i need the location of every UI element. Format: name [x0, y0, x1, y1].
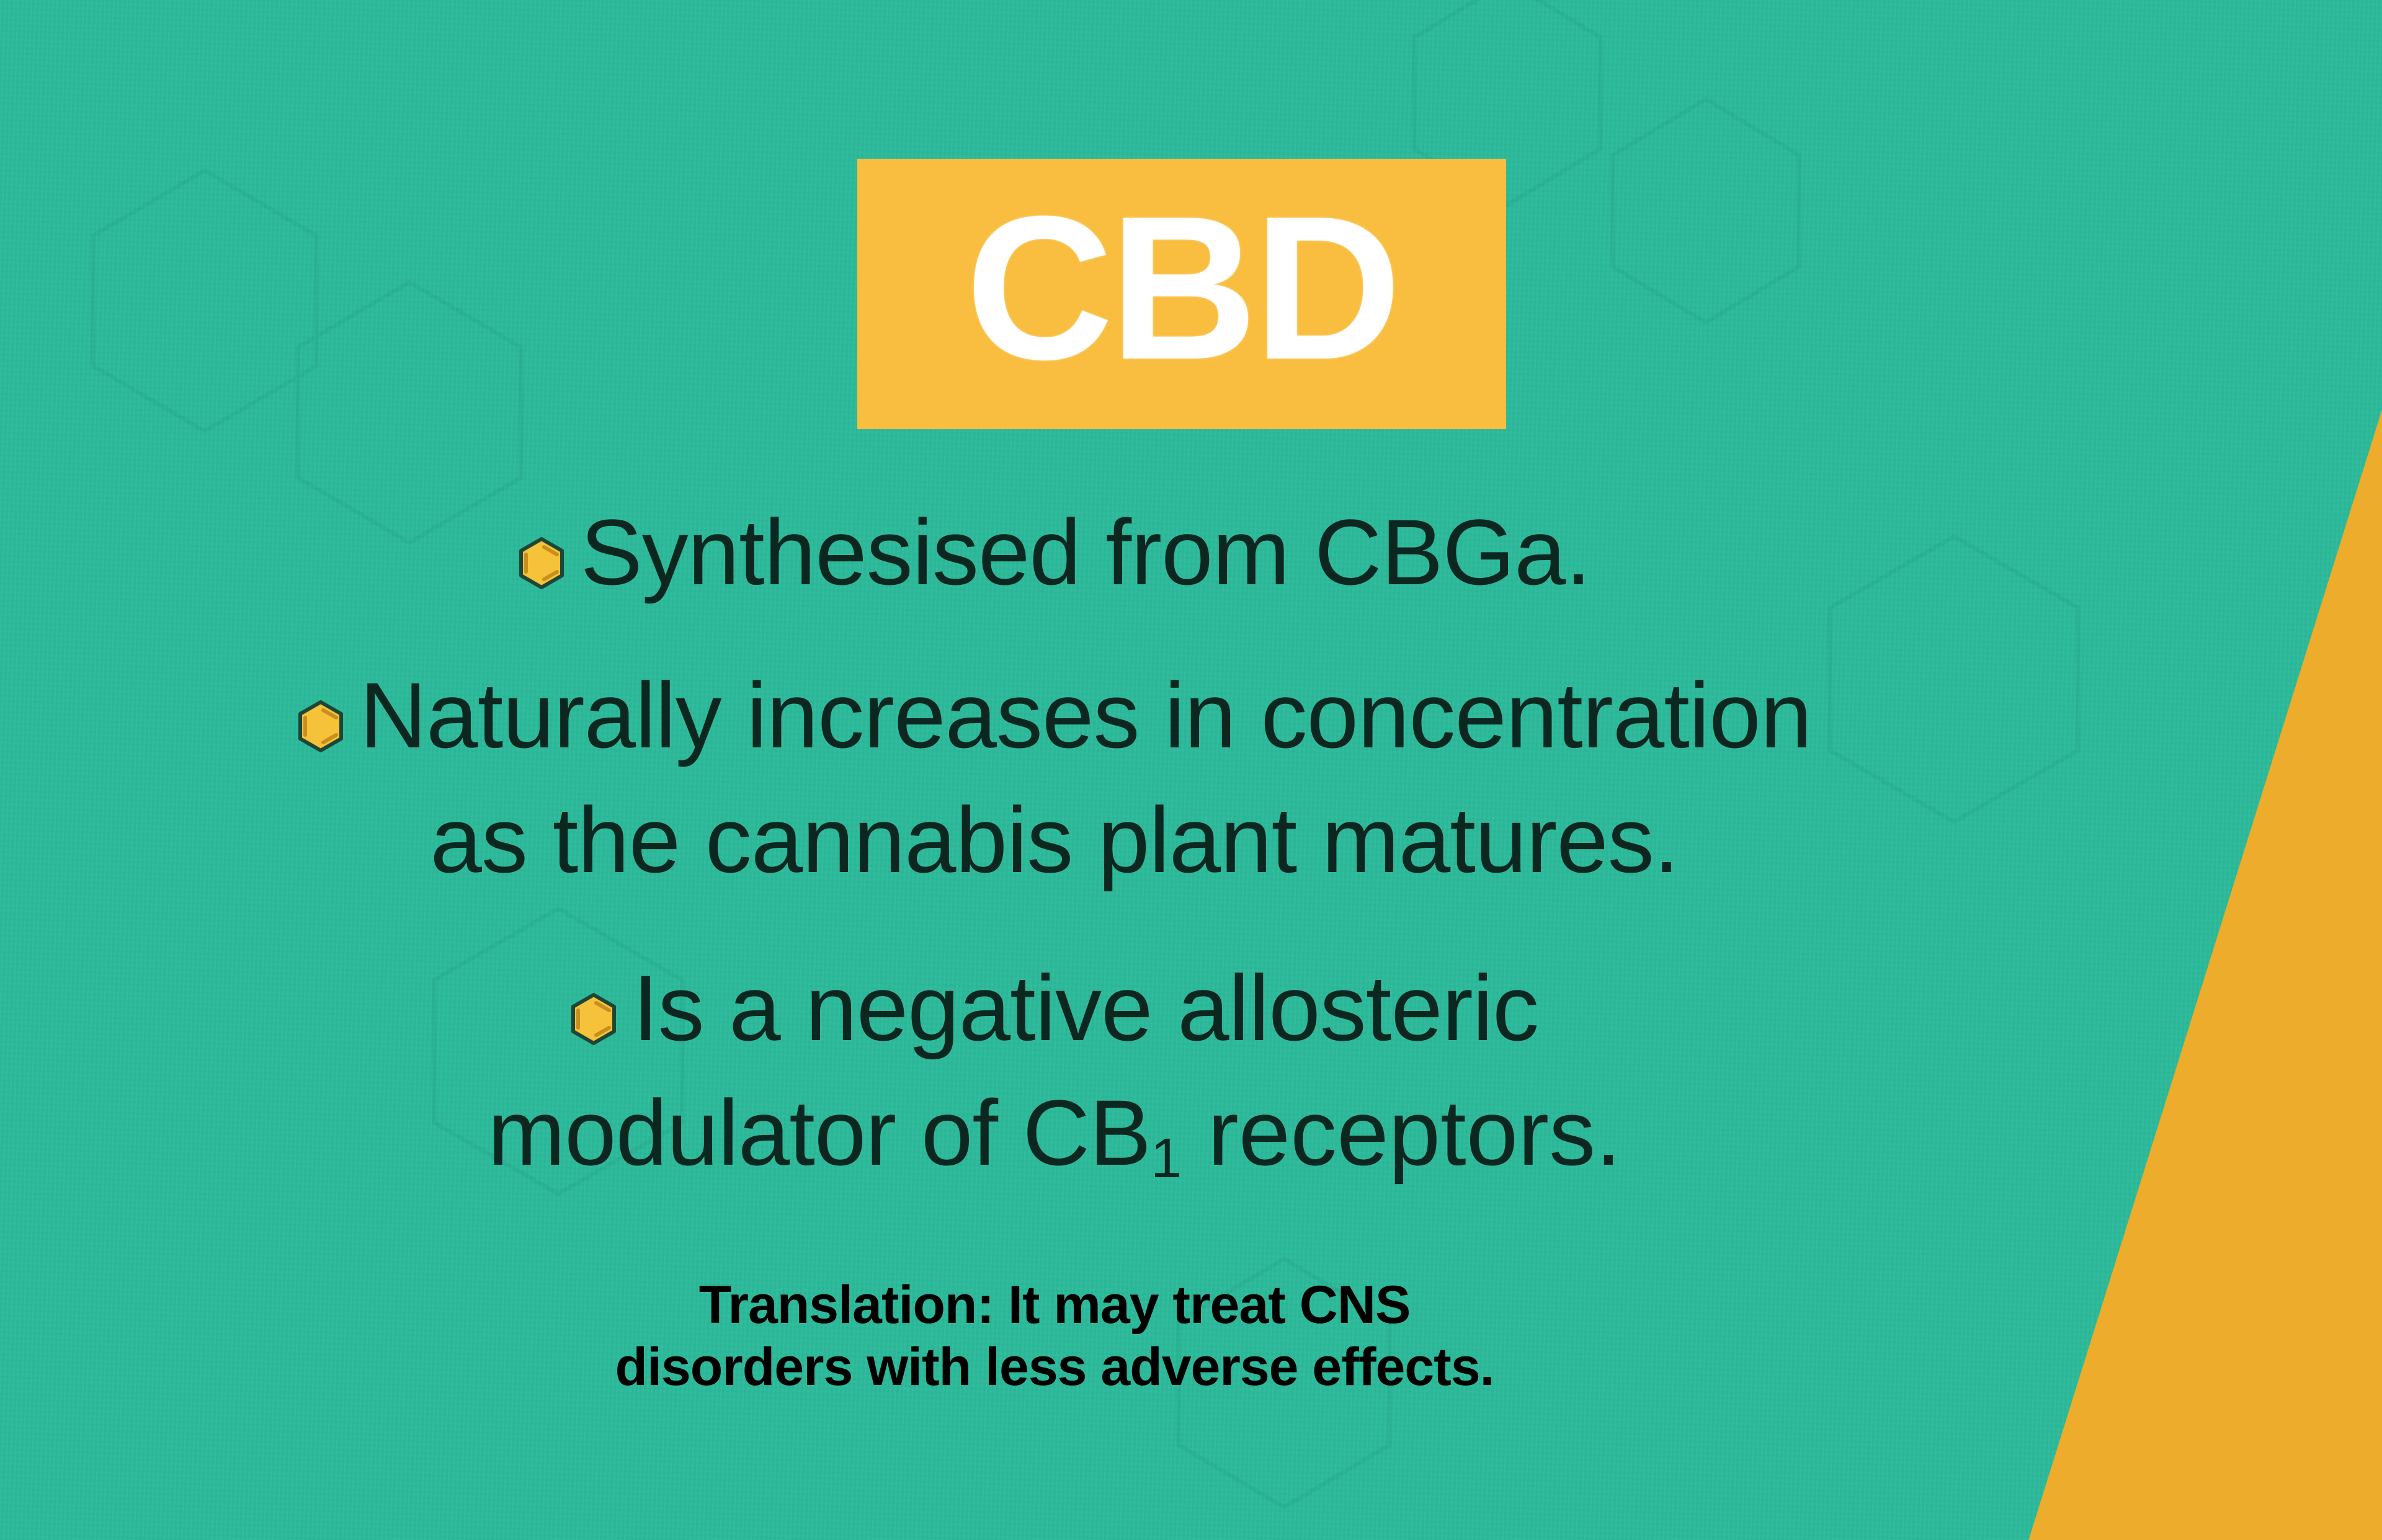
- hexagon-benzene-icon: [571, 993, 617, 1045]
- hexagon-benzene-icon: [298, 700, 344, 752]
- receptor-subscript: 1: [1151, 1128, 1182, 1190]
- bullet-text-continued: modulator of CB1 receptors.: [0, 1070, 2109, 1195]
- cbd-title-badge: CBD: [857, 159, 1506, 429]
- bullet-item-synthesised: Synthesised from CBGa.: [0, 490, 2109, 615]
- translation-line-2: disorders with less adverse effects.: [0, 1337, 2109, 1399]
- bullet-line: Naturally increases in concentration: [0, 653, 2109, 778]
- slide-canvas: CBD Synthesised from CBGa. Nat: [0, 0, 2382, 1540]
- bullet-item-allosteric-modulator: Is a negative allosteric modulator of CB…: [0, 946, 2109, 1195]
- translation-line-1: Translation: It may treat CNS: [0, 1275, 2109, 1337]
- translation-note: Translation: It may treat CNS disorders …: [0, 1275, 2109, 1399]
- hexagon-benzene-icon: [519, 537, 564, 589]
- receptor-label-after: receptors.: [1182, 1080, 1621, 1185]
- page-title: CBD: [966, 185, 1398, 390]
- bullet-item-naturally-increases: Naturally increases in concentration as …: [0, 653, 2109, 902]
- bullet-line: Is a negative allosteric: [0, 946, 2109, 1070]
- bullet-text-continued: as the cannabis plant matures.: [0, 778, 2109, 902]
- bullet-list: Synthesised from CBGa. Naturally increas…: [0, 490, 2109, 1195]
- bullet-line: Synthesised from CBGa.: [0, 490, 2109, 615]
- bullet-text: Is a negative allosteric: [633, 956, 1538, 1060]
- bullet-text: Naturally increases in concentration: [360, 663, 1811, 767]
- receptor-label-before: modulator of CB: [488, 1080, 1151, 1185]
- bullet-text: Synthesised from CBGa.: [581, 500, 1591, 604]
